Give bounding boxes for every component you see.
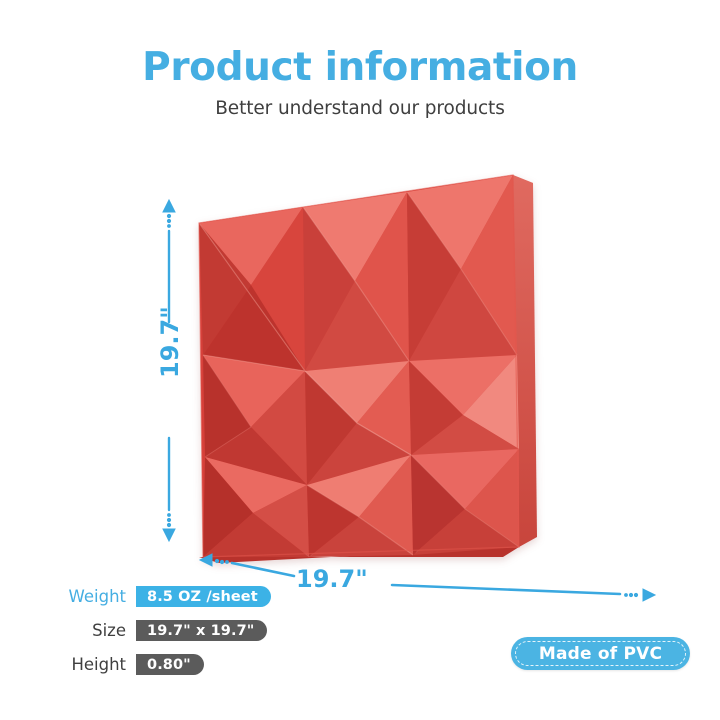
spec-value-weight: 8.5 OZ /sheet: [136, 586, 271, 607]
product-info-page: Product information Better understand ou…: [0, 0, 720, 720]
page-subtitle: Better understand our products: [0, 98, 720, 119]
dimension-arrow-up-head: [163, 200, 175, 212]
dimension-line-horizontal-right: [392, 585, 620, 594]
page-title: Product information: [0, 48, 720, 89]
spec-row-height: Height 0.80": [52, 650, 352, 679]
spec-value-size: 19.7" x 19.7": [136, 620, 267, 641]
spec-row-weight: Weight 8.5 OZ /sheet: [52, 582, 352, 611]
spec-list: Weight 8.5 OZ /sheet Size 19.7" x 19.7" …: [52, 582, 352, 684]
product-image: [185, 165, 545, 575]
spec-label-weight: Weight: [52, 587, 136, 606]
spec-label-size: Size: [52, 621, 136, 640]
made-of-pvc-badge: Made of PVC: [511, 637, 690, 670]
spec-value-height: 0.80": [136, 654, 204, 675]
header: Product information Better understand ou…: [0, 48, 720, 119]
dimension-arrow-down-head: [163, 529, 175, 541]
spec-label-height: Height: [52, 655, 136, 674]
spec-row-size: Size 19.7" x 19.7": [52, 616, 352, 645]
dimension-label-height: 19.7": [156, 318, 184, 378]
dimension-arrow-right-head: [643, 589, 655, 601]
made-of-pvc-label: Made of PVC: [539, 644, 662, 664]
diamond-panel-illustration: [185, 165, 545, 575]
